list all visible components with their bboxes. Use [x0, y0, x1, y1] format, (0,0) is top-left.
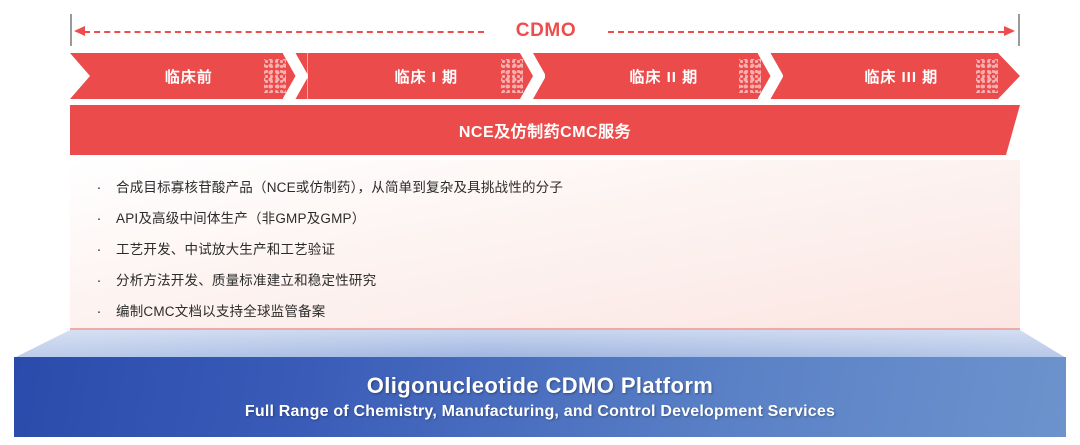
clinical-phase-bar: 临床前 临床 I 期 临床 II 期 临床 III 期	[70, 53, 1020, 99]
list-item-text: 分析方法开发、质量标准建立和稳定性研究	[116, 265, 376, 296]
list-item: · API及高级中间体生产（非GMP及GMP）	[82, 203, 1020, 234]
phase-clinical-1[interactable]: 临床 I 期	[308, 53, 546, 99]
bullet-marker-icon: ·	[82, 265, 116, 296]
chevron-right-icon	[758, 53, 784, 99]
service-details-panel: · 合成目标寡核苷酸产品（NCE或仿制药），从简单到复杂及具挑战性的分子 · A…	[70, 160, 1020, 330]
phase-label: 临床 III 期	[864, 66, 938, 87]
phase-clinical-3[interactable]: 临床 III 期	[783, 53, 1021, 99]
bullet-marker-icon: ·	[82, 234, 116, 265]
platform-footer-banner: Oligonucleotide CDMO Platform Full Range…	[14, 357, 1066, 437]
arrow-right-icon	[1004, 26, 1015, 36]
cdmo-span-label: CDMO	[478, 20, 614, 42]
dashed-line-right	[608, 31, 1004, 33]
phase-label: 临床 II 期	[629, 66, 698, 87]
span-tick-left	[70, 14, 72, 46]
list-item-text: 工艺开发、中试放大生产和工艺验证	[116, 234, 335, 265]
dashed-line-left	[84, 31, 484, 33]
platform-title: Oligonucleotide CDMO Platform	[367, 373, 714, 399]
bullet-marker-icon: ·	[82, 172, 116, 203]
dot-texture-icon	[264, 59, 286, 93]
list-item-text: 编制CMC文档以支持全球监管备案	[116, 296, 325, 327]
infographic-slide: CDMO 临床前 临床 I 期 临床 II 期 临床 III 期 NCE及仿制药…	[0, 0, 1080, 445]
chevron-right-icon	[520, 53, 546, 99]
phase-label: 临床前	[165, 66, 213, 87]
cdmo-span-indicator: CDMO	[70, 14, 1020, 48]
bullet-marker-icon: ·	[82, 296, 116, 327]
phase-preclinical[interactable]: 临床前	[70, 53, 308, 99]
chevron-right-icon	[283, 53, 309, 99]
span-tick-right	[1018, 14, 1020, 46]
phase-label: 临床 I 期	[394, 66, 458, 87]
list-item: · 工艺开发、中试放大生产和工艺验证	[82, 234, 1020, 265]
perspective-wedge	[14, 330, 1066, 358]
bullet-marker-icon: ·	[82, 203, 116, 234]
service-banner: NCE及仿制药CMC服务	[70, 105, 1020, 155]
phase-clinical-2[interactable]: 临床 II 期	[545, 53, 783, 99]
list-item: · 分析方法开发、质量标准建立和稳定性研究	[82, 265, 1020, 296]
platform-subtitle: Full Range of Chemistry, Manufacturing, …	[245, 403, 835, 421]
service-banner-title: NCE及仿制药CMC服务	[459, 118, 631, 142]
dot-texture-icon	[976, 59, 998, 93]
dot-texture-icon	[739, 59, 761, 93]
list-item-text: 合成目标寡核苷酸产品（NCE或仿制药），从简单到复杂及具挑战性的分子	[116, 172, 563, 203]
list-item: · 编制CMC文档以支持全球监管备案	[82, 296, 1020, 327]
list-item-text: API及高级中间体生产（非GMP及GMP）	[116, 203, 365, 234]
dot-texture-icon	[501, 59, 523, 93]
list-item: · 合成目标寡核苷酸产品（NCE或仿制药），从简单到复杂及具挑战性的分子	[82, 172, 1020, 203]
